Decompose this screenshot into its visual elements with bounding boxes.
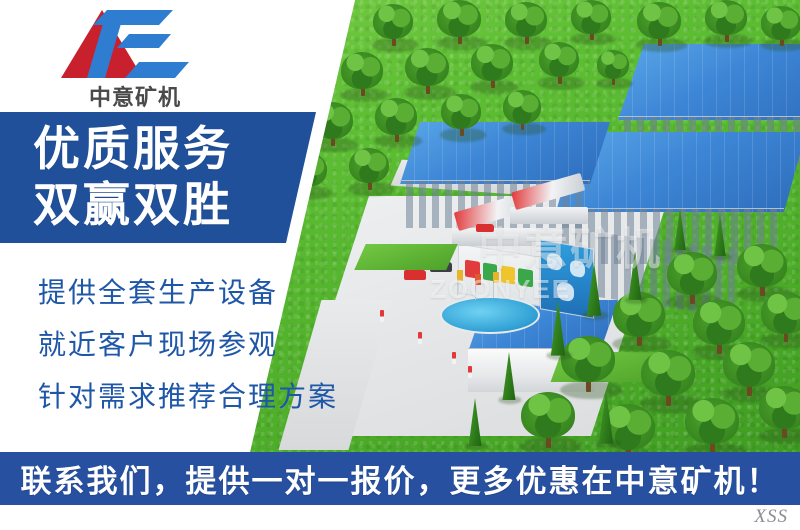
- tree: [440, 94, 482, 138]
- grass-plot: [354, 244, 458, 270]
- cta-banner-text: 联系我们，提供一对一报价，更多优惠在中意矿机！: [21, 456, 780, 501]
- headline-line-1: 优质服务: [33, 125, 233, 172]
- conifer-tree: [548, 300, 568, 358]
- feature-bullet-3: 针对需求推荐合理方案: [38, 383, 338, 411]
- tree: [596, 50, 630, 86]
- conifer-tree: [500, 352, 518, 402]
- conifer-tree: [672, 208, 688, 252]
- road-bollard: [418, 332, 422, 344]
- roof-main-hall: [618, 44, 800, 120]
- conifer-tree: [712, 214, 728, 258]
- decorative-pool: [440, 296, 540, 334]
- conifer-tree: [584, 262, 604, 318]
- cta-banner[interactable]: 联系我们，提供一对一报价，更多优惠在中意矿机！: [0, 452, 800, 505]
- billboard-figure: [570, 259, 585, 278]
- conifer-tree: [466, 398, 484, 448]
- tree: [684, 398, 740, 452]
- car-red: [476, 224, 494, 232]
- tree: [736, 244, 788, 298]
- tree: [520, 392, 576, 450]
- road-bollard: [380, 310, 384, 322]
- corner-watermark: XSS: [754, 506, 788, 528]
- flag-cloth: [493, 272, 499, 283]
- mural-swatch: [518, 268, 532, 287]
- tree: [404, 48, 450, 96]
- mobile-crusher-unit: [510, 192, 588, 224]
- tree: [470, 44, 514, 90]
- tree: [704, 0, 748, 44]
- tree: [570, 0, 612, 42]
- flag-cloth: [457, 270, 463, 281]
- conifer-tree: [626, 250, 644, 302]
- decor-flag: [470, 274, 480, 300]
- feature-bullet-2: 就近客户现场参观: [38, 331, 278, 359]
- tree: [372, 4, 414, 48]
- flag-cloth: [475, 274, 481, 285]
- tree: [560, 336, 616, 394]
- headline-line-2: 双赢双胜: [33, 181, 233, 228]
- decor-flag: [452, 270, 462, 296]
- tree: [340, 52, 384, 98]
- tree: [636, 2, 682, 48]
- promotional-banner: 中意矿机 ZOONYEE 中意矿机 优质服务 双赢双胜 提供全套生产设备 就近客…: [0, 0, 800, 530]
- road-bollard: [452, 352, 456, 364]
- feature-bullet-1: 提供全套生产设备: [38, 279, 278, 307]
- mural-swatch: [501, 266, 515, 285]
- tree: [374, 98, 418, 144]
- tree: [348, 148, 390, 192]
- decor-flag: [488, 272, 498, 298]
- crusher-chassis: [510, 207, 588, 224]
- company-logo: 中意矿机: [55, 6, 215, 111]
- billboard-figure: [557, 281, 575, 302]
- road-bollard: [468, 366, 472, 378]
- tree: [760, 6, 800, 48]
- tree: [436, 0, 482, 46]
- car-red: [404, 270, 426, 280]
- tree: [538, 42, 580, 86]
- tree: [504, 2, 548, 46]
- headline-panel: 优质服务 双赢双胜: [0, 112, 340, 243]
- crusher-chassis: [452, 228, 536, 246]
- conifer-tree: [596, 390, 616, 446]
- billboard-figure: [547, 252, 562, 271]
- tree: [666, 252, 718, 306]
- triangle-e-logo-icon: [55, 6, 215, 84]
- tree: [760, 292, 800, 344]
- tree: [758, 386, 800, 440]
- logo-wordmark: 中意矿机: [55, 80, 215, 112]
- tree: [502, 90, 542, 132]
